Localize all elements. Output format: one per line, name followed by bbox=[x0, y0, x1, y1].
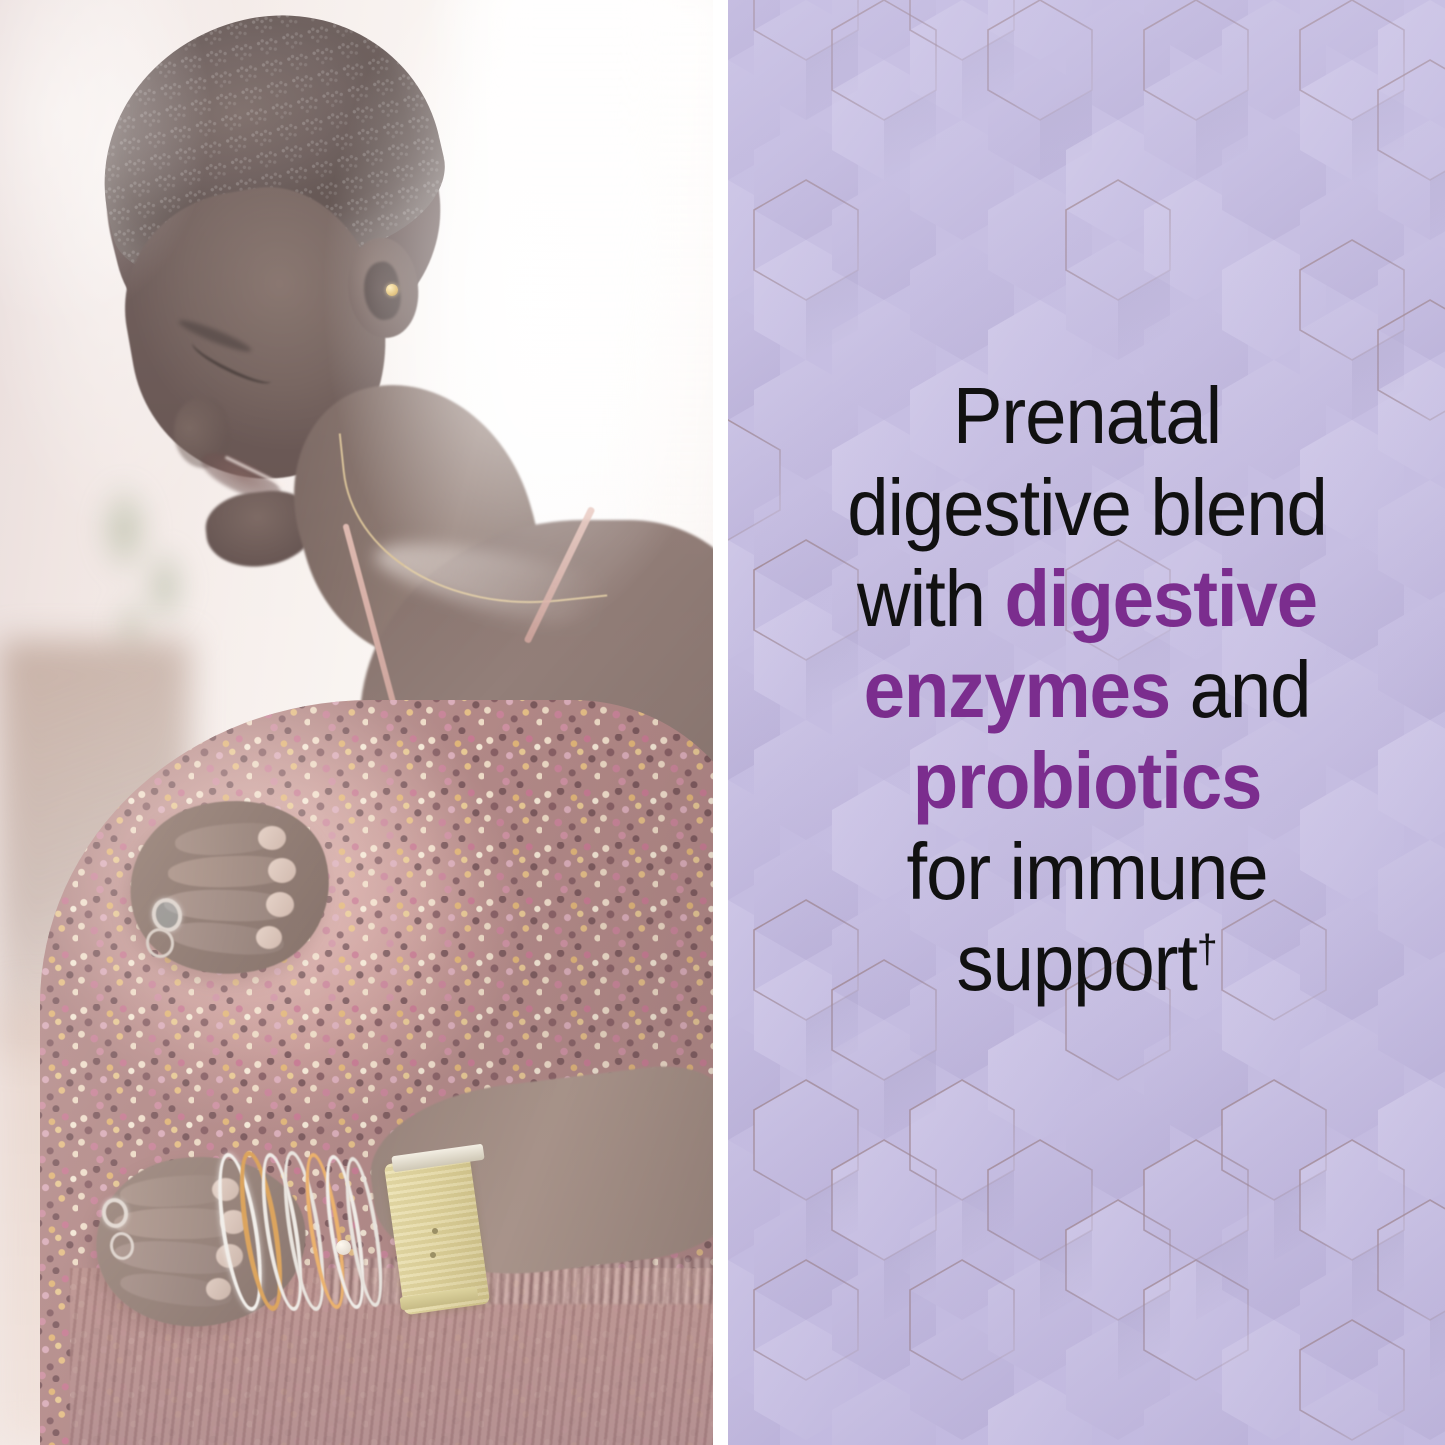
headline: Prenatal digestive blend with digestive … bbox=[780, 370, 1394, 1074]
headline-line-4-plain: and bbox=[1170, 645, 1310, 734]
message-panel: Prenatal digestive blend with digestive … bbox=[728, 0, 1445, 1445]
panel-divider bbox=[713, 0, 728, 1445]
headline-line-7: support bbox=[956, 918, 1196, 1007]
watch-strap-hole bbox=[430, 1252, 436, 1258]
headline-emphasis-enzymes: enzymes bbox=[863, 645, 1170, 734]
headline-line-2: digestive blend bbox=[847, 463, 1327, 552]
fingernail bbox=[266, 892, 294, 917]
watch-strap-hole bbox=[432, 1228, 438, 1234]
fingernail bbox=[268, 858, 296, 883]
fingernail bbox=[206, 1278, 231, 1300]
fingernail bbox=[258, 826, 286, 850]
headline-line-6: for immune bbox=[906, 827, 1267, 916]
headline-emphasis-probiotics: probiotics bbox=[912, 736, 1260, 825]
product-lifestyle-banner: Prenatal digestive blend with digestive … bbox=[0, 0, 1445, 1445]
headline-line-1: Prenatal bbox=[952, 371, 1220, 460]
bangle-charm bbox=[336, 1240, 351, 1255]
pregnant-woman-figure bbox=[0, 0, 713, 1445]
gold-stud-earring-icon bbox=[386, 284, 398, 296]
footnote-dagger: † bbox=[1196, 928, 1217, 972]
headline-emphasis-digestive: digestive bbox=[1004, 554, 1316, 643]
fingernail bbox=[256, 926, 282, 949]
lifestyle-photo bbox=[0, 0, 713, 1445]
headline-line-3-plain: with bbox=[857, 554, 1004, 643]
